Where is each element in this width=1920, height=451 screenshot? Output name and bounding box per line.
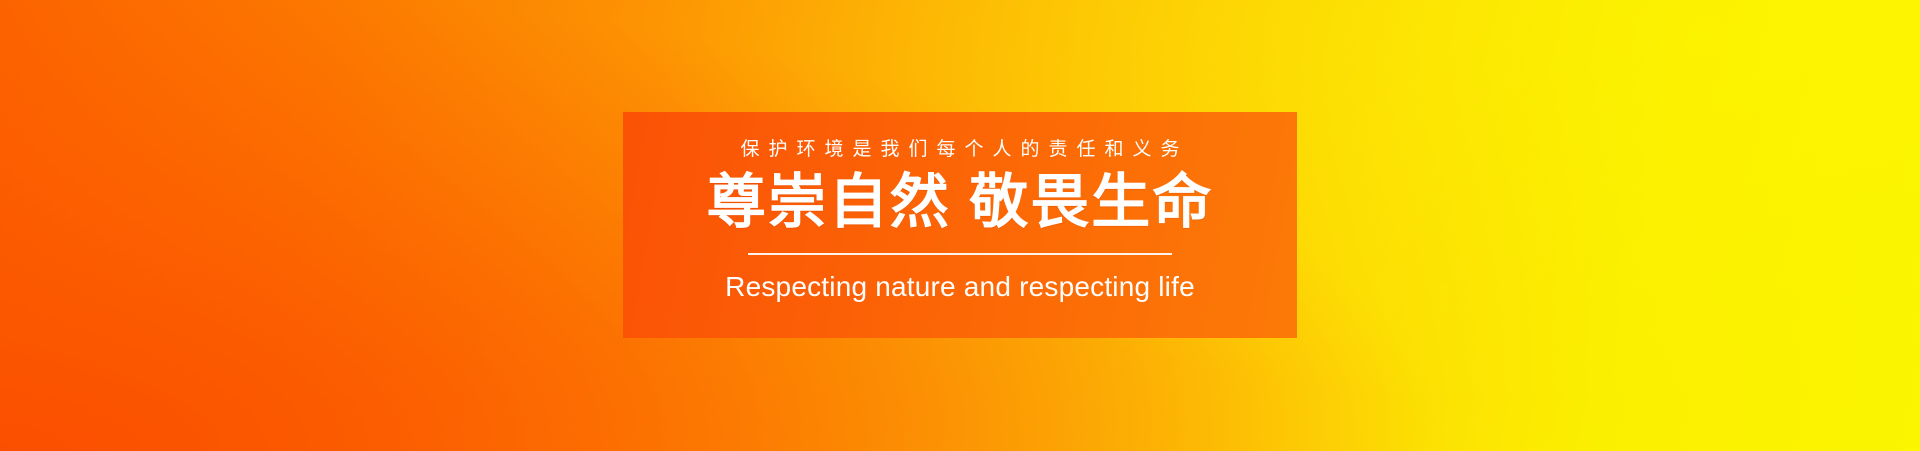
slogan-panel: 保护环境是我们每个人的责任和义务 尊崇自然 敬畏生命 Respecting na… bbox=[623, 112, 1297, 338]
horizontal-divider bbox=[748, 253, 1172, 255]
chinese-headline: 尊崇自然 敬畏生命 bbox=[707, 171, 1213, 235]
environment-slogan-banner: 保护环境是我们每个人的责任和义务 尊崇自然 敬畏生命 Respecting na… bbox=[0, 0, 1920, 451]
chinese-subtitle: 保护环境是我们每个人的责任和义务 bbox=[731, 140, 1188, 161]
english-subtitle: Respecting nature and respecting life bbox=[725, 271, 1195, 303]
